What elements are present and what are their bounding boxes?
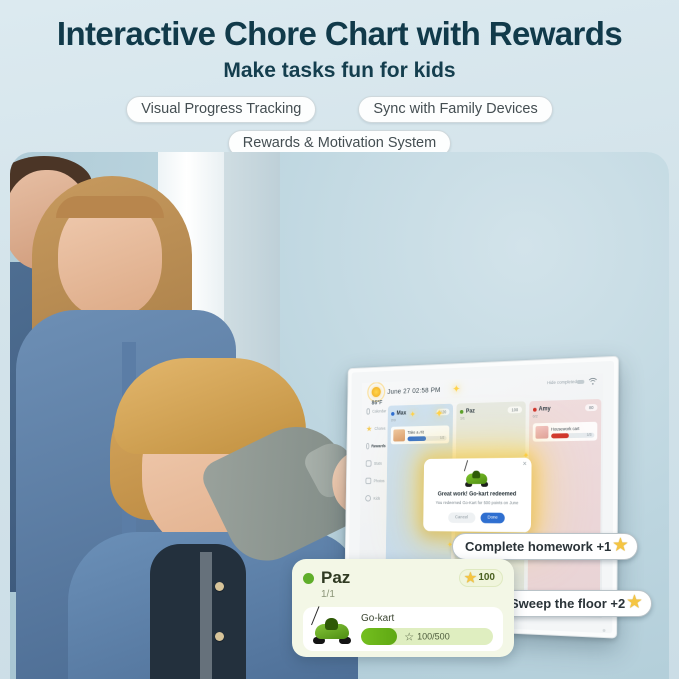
page-header: Interactive Chore Chart with Rewards Mak… (0, 0, 679, 152)
power-indicator (603, 629, 606, 632)
kid-name-max: Max (391, 410, 406, 416)
gift-icon (366, 443, 369, 449)
task-progress-bar: 1/2 (407, 435, 446, 440)
kid-points-badge: 80 (585, 404, 597, 411)
kid-name-label: Max (396, 410, 406, 416)
feature-pill-visual-progress: Visual Progress Tracking (126, 96, 316, 123)
task-progress-fill (407, 436, 426, 441)
hide-completed-toggle[interactable] (577, 379, 585, 384)
wifi-icon (588, 377, 598, 385)
sidebar-item-chores[interactable]: Chores (366, 425, 386, 432)
kid-name-label: Paz (466, 408, 475, 414)
kid-name-label: Amy (539, 406, 551, 412)
task-thumbnail (393, 429, 405, 441)
status-dot (460, 409, 464, 413)
kid-progress-fraction: 0/2 (533, 412, 598, 419)
sidebar-item-photos[interactable]: Photos (365, 478, 385, 485)
go-kart-icon (311, 613, 353, 645)
feature-pill-row-1: Visual Progress Tracking Sync with Famil… (0, 96, 679, 123)
sidebar-item-stats[interactable]: Stats (366, 460, 386, 467)
star-icon: ★ (627, 595, 641, 611)
star-icon: ★ (465, 571, 477, 584)
photo-icon (365, 478, 371, 484)
people-icon (365, 495, 371, 501)
task-thumbnail (535, 426, 548, 439)
task-progress-count: 1/3 (587, 433, 592, 437)
paz-progress-bar: ☆ 100/500 (361, 628, 493, 645)
sidebar-item-label: Photos (374, 479, 385, 484)
reward-redeemed-modal[interactable]: ✕ Great work! Go-kart redeemed You redee… (423, 458, 531, 533)
paz-reward-row[interactable]: Go-kart ☆ 100/500 (303, 607, 503, 651)
sidebar-item-label: Calendar (372, 409, 386, 414)
jacket-button (215, 582, 224, 591)
callout-text: Sweep the floor +2 (510, 596, 625, 611)
feature-pill-sync-family: Sync with Family Devices (358, 96, 552, 123)
paz-summary-card[interactable]: Paz ★ 100 1/1 Go-kart ☆ 100/500 (292, 559, 514, 657)
sidebar-item-calendar[interactable]: Calendar (366, 408, 386, 415)
temperature-label: 86°F (372, 400, 383, 407)
page-subtitle: Make tasks fun for kids (0, 59, 679, 83)
star-icon: ★ (613, 538, 627, 554)
paz-card-header: Paz ★ 100 (303, 568, 503, 588)
status-dot (303, 573, 314, 584)
star-outline-icon: ☆ (404, 630, 414, 643)
datetime-label: June 27 02:58 PM (387, 385, 440, 395)
task-name: Housework cart (551, 425, 595, 431)
paz-reward-name: Go-kart (361, 613, 493, 624)
callout-text: Complete homework +1 (465, 539, 611, 554)
sun-icon (372, 387, 381, 397)
chart-icon (366, 460, 372, 466)
modal-description: You redeemed Go-Kart for 500 points on J… (430, 500, 524, 506)
kid-column-amy[interactable]: Amy 80 0/2 Housework cart 1/3 (527, 399, 601, 616)
boy-jacket-placket (200, 552, 212, 679)
sidebar-item-kids[interactable]: Kids (365, 495, 385, 501)
task-progress-fill (551, 433, 569, 438)
paz-progress-fraction: 1/1 (321, 589, 503, 600)
sidebar-item-label: Kids (373, 496, 380, 501)
page-title: Interactive Chore Chart with Rewards (0, 16, 679, 53)
task-card[interactable]: Housework cart 1/3 (532, 422, 597, 442)
task-progress-bar: 1/3 (551, 432, 595, 438)
calendar-icon (366, 408, 369, 414)
task-body: Take a Hit 1/2 (407, 429, 447, 441)
modal-actions: Cancel Done (430, 513, 524, 524)
kid-progress-fraction: 2/3 (391, 416, 450, 422)
done-button[interactable]: Done (480, 513, 505, 524)
kid-name-amy: Amy (533, 406, 551, 412)
callout-complete-homework: Complete homework +1 ★ (452, 533, 638, 560)
kid-points-badge: 100 (508, 406, 522, 413)
sidebar-item-label: Chores (374, 426, 385, 431)
callout-sweep-floor: Sweep the floor +2 ★ (497, 590, 652, 617)
status-dot (533, 407, 537, 411)
jacket-button (215, 632, 224, 641)
paz-reward-body: Go-kart ☆ 100/500 (361, 613, 493, 645)
kart-seat (472, 471, 480, 479)
task-card[interactable]: Take a Hit 1/2 (391, 425, 450, 444)
go-kart-icon (464, 468, 489, 487)
kart-seat (325, 618, 338, 630)
cancel-button[interactable]: Cancel (448, 513, 475, 524)
status-dot (391, 412, 394, 416)
sidebar-item-rewards[interactable]: Rewards (366, 443, 386, 450)
mother-headband (56, 196, 164, 218)
paz-progress-fill (361, 628, 397, 645)
task-body: Housework cart 1/3 (551, 425, 595, 438)
paz-points-value: 100 (478, 572, 495, 583)
paz-progress-label: ☆ 100/500 (404, 630, 449, 643)
paz-progress-value: 100/500 (417, 632, 450, 642)
boy-inner-shirt (150, 544, 246, 679)
close-icon[interactable]: ✕ (522, 461, 527, 468)
kart-antenna (311, 606, 319, 625)
paz-name-group: Paz (303, 568, 350, 588)
paz-name-label: Paz (321, 568, 350, 588)
sidebar-item-label: Rewards (371, 444, 385, 449)
task-name: Take a Hit (408, 429, 447, 435)
hide-completed-label: Hide completed (547, 379, 577, 385)
star-icon (366, 425, 372, 432)
kid-points-badge: 120 (437, 408, 450, 415)
sidebar-item-label: Stats (374, 461, 382, 466)
paz-points-badge: ★ 100 (459, 569, 503, 587)
task-progress-count: 1/2 (440, 436, 444, 440)
modal-title: Great work! Go-kart redeemed (430, 491, 524, 498)
kid-progress-fraction: 1/1 (460, 414, 522, 420)
kid-name-paz: Paz (460, 408, 475, 414)
